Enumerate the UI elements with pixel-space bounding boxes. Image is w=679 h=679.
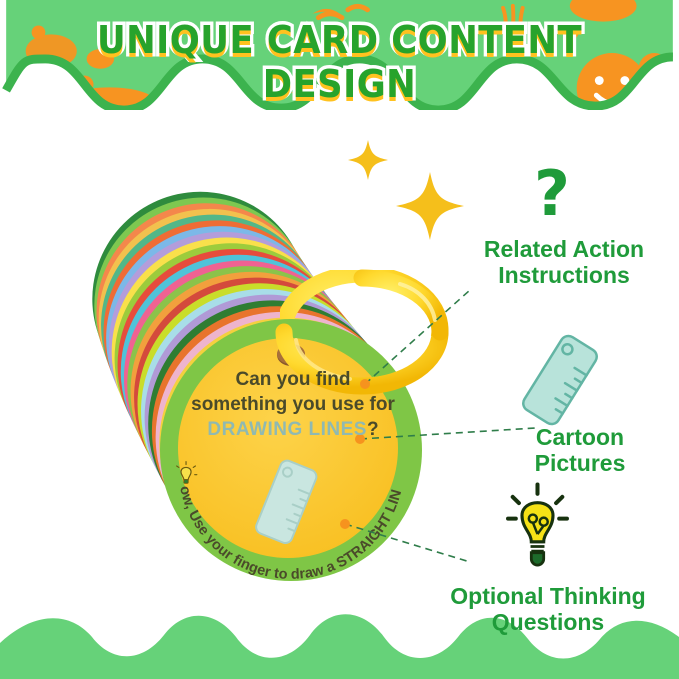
card-question-mark: ? <box>367 419 379 440</box>
card-question-text: Can you find something you use for DRAWI… <box>186 367 400 442</box>
product-infographic: UNIQUE CARD CONTENT DESIGN <box>0 0 679 679</box>
callout-2-line1: Cartoon <box>500 424 660 450</box>
callout-optional-thinking-questions: Optional Thinking Questions <box>432 583 664 636</box>
leader-dot-3 <box>340 519 350 529</box>
callout-related-action-instructions: Related Action Instructions <box>466 236 662 289</box>
callout-cartoon-pictures: Cartoon Pictures <box>500 424 660 477</box>
question-mark-icon: ? <box>534 163 570 225</box>
card-question-line2: something you use for <box>186 392 400 417</box>
card-question-line1: Can you find <box>186 367 400 392</box>
callout-1-line2: Instructions <box>466 262 662 288</box>
front-card-group: Now, Use your finger to draw a STRAIGHT … <box>0 0 679 679</box>
callout-3-line2: Questions <box>432 609 664 635</box>
card-question-highlight: DRAWING LINES <box>207 419 367 440</box>
callout-2-line2: Pictures <box>500 450 660 476</box>
callout-1-line1: Related Action <box>466 236 662 262</box>
callout-3-line1: Optional Thinking <box>432 583 664 609</box>
